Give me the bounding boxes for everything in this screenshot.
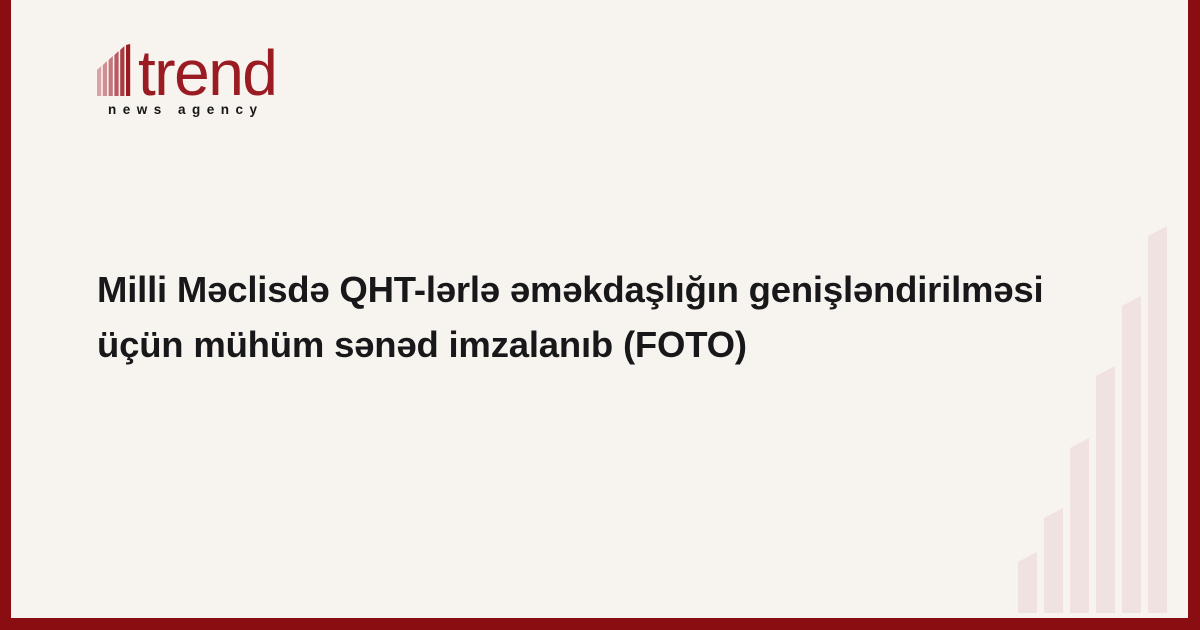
logo-wordmark: trend [138,47,276,99]
brand-logo[interactable]: trend news agency [97,38,276,117]
share-card: trend news agency Milli Məclisdə QHT-lər… [0,0,1200,630]
ascending-bars-watermark [1018,158,1188,618]
headline: Milli Məclisdə QHT-lərlə əməkdaşlığın ge… [97,262,1087,372]
ascending-bars-icon [97,44,137,96]
logo-mark-row: trend [97,38,276,96]
